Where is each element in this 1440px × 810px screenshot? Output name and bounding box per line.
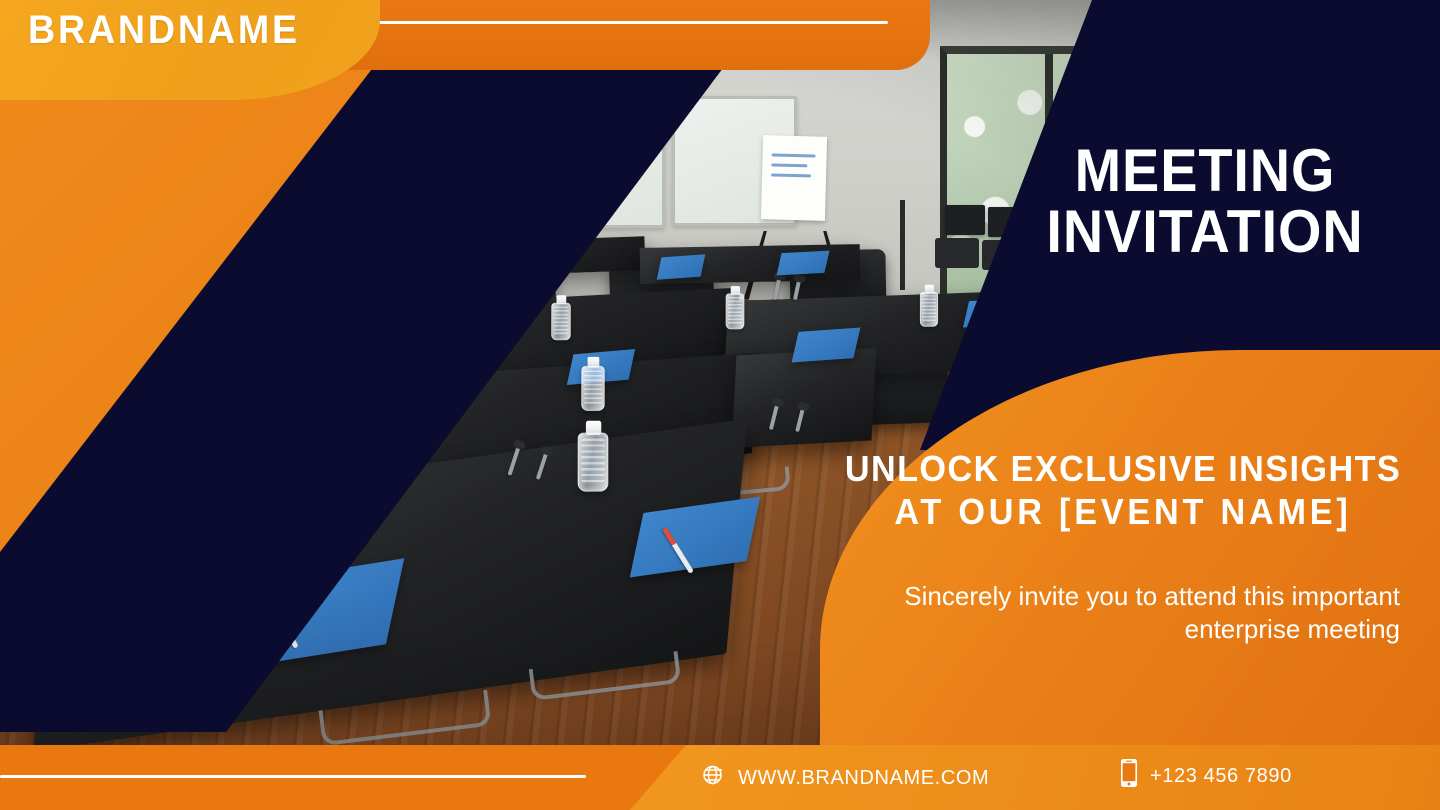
meeting-invitation-poster: BRANDNAME MEETING INVITATION UNLOCK EXCL… xyxy=(0,0,1440,810)
phone-text: +123 456 7890 xyxy=(1150,765,1292,788)
brand-name: BRANDNAME xyxy=(28,8,300,53)
flipchart xyxy=(761,135,827,221)
contact-website[interactable]: WWW.BRANDNAME.COM xyxy=(700,762,989,794)
rear-chair xyxy=(935,238,979,268)
footer-divider-rule xyxy=(0,775,586,778)
water-bottle xyxy=(578,418,609,491)
water-bottle xyxy=(551,294,571,341)
conference-table xyxy=(732,348,877,448)
globe-icon xyxy=(700,762,726,794)
title-line-2: INVITATION xyxy=(1005,201,1405,262)
contact-phone[interactable]: +123 456 7890 xyxy=(1120,758,1292,794)
headline-line-2: AT OUR [EVENT NAME] xyxy=(843,489,1404,536)
title-line-1: MEETING xyxy=(1005,140,1405,201)
blue-folder xyxy=(776,251,829,276)
water-bottle xyxy=(581,355,604,411)
mobile-phone-icon xyxy=(1120,758,1138,794)
rear-monitor xyxy=(945,205,985,235)
website-text: WWW.BRANDNAME.COM xyxy=(738,767,989,790)
blue-folder xyxy=(657,254,706,279)
invitation-body-text: Sincerely invite you to attend this impo… xyxy=(818,580,1418,647)
equipment-pole xyxy=(900,200,905,290)
poster-title: MEETING INVITATION xyxy=(990,140,1420,262)
water-bottle xyxy=(726,285,745,330)
headline-line-1: UNLOCK EXCLUSIVE INSIGHTS xyxy=(843,448,1404,489)
headline-block: UNLOCK EXCLUSIVE INSIGHTS AT OUR [EVENT … xyxy=(828,448,1418,536)
blue-folder xyxy=(792,328,861,363)
header-divider-rule xyxy=(318,21,888,24)
water-bottle xyxy=(920,283,938,326)
